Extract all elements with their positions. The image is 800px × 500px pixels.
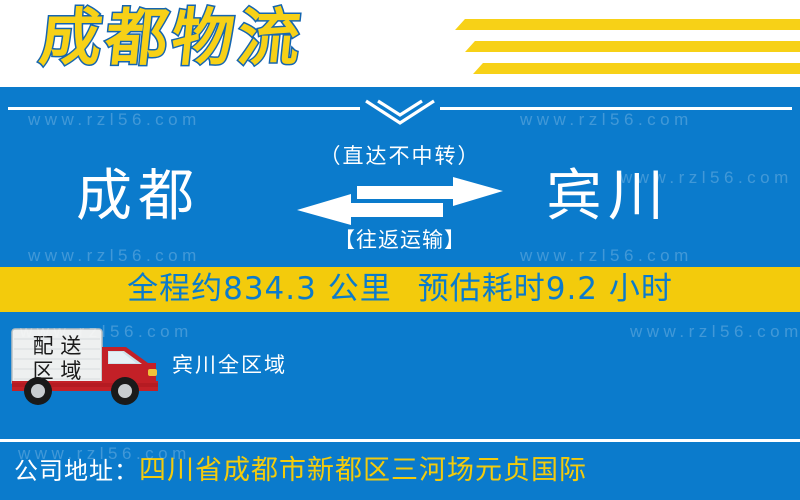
origin-city: 成都 (76, 153, 200, 241)
company-address-label: 公司地址： (14, 454, 139, 488)
stripe-1 (455, 19, 800, 30)
bidirectional-arrow-icon (295, 177, 505, 225)
direct-service-note: （直达不中转） (270, 143, 530, 169)
route-section: 成都 （直达不中转） 【往返运输】 宾川 (0, 145, 800, 263)
duration-unit: 小时 (609, 271, 673, 307)
duration-prefix: 预估耗时 (418, 271, 546, 307)
poster-header: 成都物流 (0, 0, 800, 87)
poster-footer: 公司地址： 四川省成都市新都区三河场元贞国际 (0, 442, 800, 500)
truck-box-line1: 配 送 (33, 334, 82, 358)
roundtrip-note: 【往返运输】 (270, 227, 530, 253)
stripe-2 (465, 41, 800, 52)
delivery-area-label: 宾川全区域 (172, 351, 287, 379)
duration-value: 9.2 (546, 271, 598, 307)
destination-city: 宾川 (546, 153, 670, 241)
logistics-route-poster: 成都物流 成都 （直达不中转） (0, 0, 800, 500)
distance-unit: 公里 (328, 271, 392, 307)
truck-box-line2: 区 域 (33, 359, 82, 383)
company-address-value: 四川省成都市新都区三河场元贞国际 (139, 454, 587, 488)
brand-title: 成都物流 (36, 2, 308, 74)
poster-body: 成都 （直达不中转） 【往返运输】 宾川 全程约834.3 公里预估耗时9.2 … (0, 87, 800, 500)
delivery-area-section: 配 送 区 域 宾川全区域 (0, 327, 800, 407)
header-stripes-decoration (420, 10, 800, 80)
double-chevron-down-icon (360, 93, 440, 127)
stripe-3 (473, 63, 800, 74)
delivery-truck-icon: 配 送 区 域 (8, 323, 168, 412)
distance-prefix: 全程约 (127, 271, 223, 307)
metrics-band: 全程约834.3 公里预估耗时9.2 小时 (0, 267, 800, 312)
distance-value: 834.3 (223, 271, 317, 307)
metrics-text: 全程约834.3 公里预估耗时9.2 小时 (127, 267, 673, 312)
